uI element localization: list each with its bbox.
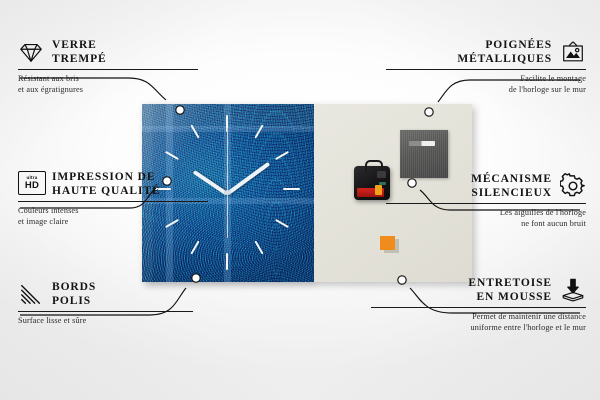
polished-edge-icon <box>18 281 44 307</box>
feature-desc-line2: et aux égratignures <box>18 85 83 94</box>
feature-mecanisme-silencieux: MÉCANISME SILENCIEUX Les aiguilles de l'… <box>386 172 586 229</box>
feature-divider <box>371 307 586 308</box>
ultra-hd-badge: ultra HD <box>18 171 46 195</box>
infographic-page: VERRE TREMPÉ Résistant aux bris et aux é… <box>0 0 600 400</box>
feature-description: Surface lisse et sûre <box>18 316 193 327</box>
feature-title-line1: BORDS <box>52 281 96 293</box>
feature-entretoise-en-mousse: ENTRETOISE EN MOUSSE Permet de maintenir… <box>371 276 586 333</box>
feature-desc-line2: ne font aucun bruit <box>521 219 586 228</box>
feature-heading: POIGNÉES MÉTALLIQUES <box>386 38 586 66</box>
feature-heading: BORDS POLIS <box>18 280 193 308</box>
ultra-hd-icon: ultra HD <box>18 171 44 197</box>
feature-desc-line1: Permet de maintenir une distance <box>472 312 586 321</box>
feature-title: MÉCANISME SILENCIEUX <box>471 172 552 200</box>
feature-heading: VERRE TREMPÉ <box>18 38 198 66</box>
feature-description: Permet de maintenir une distance uniform… <box>371 312 586 333</box>
feature-title: IMPRESSION DE HAUTE QUALITÉ <box>52 170 161 198</box>
feature-desc-line1: Facilite le montage <box>520 74 586 83</box>
feature-title: ENTRETOISE EN MOUSSE <box>468 276 552 304</box>
feature-bords-polis: BORDS POLIS Surface lisse et sûre <box>18 280 193 327</box>
feature-title-line1: MÉCANISME <box>471 173 552 185</box>
battery-plus-terminal <box>375 185 382 195</box>
gear-icon <box>560 173 586 199</box>
feature-desc-line1: Résistant aux bris <box>18 74 79 83</box>
diamond-icon <box>18 39 44 65</box>
feature-description: Couleurs intenses et image claire <box>18 206 208 227</box>
feature-title: VERRE TREMPÉ <box>52 38 107 66</box>
feature-title-line2: TREMPÉ <box>52 53 107 65</box>
feature-heading: ultra HD IMPRESSION DE HAUTE QUALITÉ <box>18 170 208 198</box>
feature-title-line2: HAUTE QUALITÉ <box>52 185 161 197</box>
feature-verre-trempe: VERRE TREMPÉ Résistant aux bris et aux é… <box>18 38 198 95</box>
feature-title-line2: EN MOUSSE <box>476 291 552 303</box>
feature-title-line1: VERRE <box>52 39 97 51</box>
foam-spacer <box>380 236 395 250</box>
feature-divider <box>18 201 208 202</box>
feature-title: BORDS POLIS <box>52 280 96 308</box>
feature-description: Les aiguilles de l'horloge ne font aucun… <box>386 208 586 229</box>
feature-desc-line2: et image claire <box>18 217 68 226</box>
feature-title-line1: ENTRETOISE <box>468 277 552 289</box>
feature-divider <box>18 69 198 70</box>
battery <box>357 188 384 197</box>
feature-title-line2: SILENCIEUX <box>471 187 552 199</box>
feature-divider <box>386 203 586 204</box>
feature-title-line1: IMPRESSION DE <box>52 171 155 183</box>
feature-title: POIGNÉES MÉTALLIQUES <box>457 38 552 66</box>
clock-mechanism-box <box>354 166 390 200</box>
feature-divider <box>18 311 193 312</box>
feature-title-line2: POLIS <box>52 295 91 307</box>
feature-description: Résistant aux bris et aux égratignures <box>18 74 198 95</box>
feature-impression-haute-qualite: ultra HD IMPRESSION DE HAUTE QUALITÉ Cou… <box>18 170 208 227</box>
mechanism-hanging-loop <box>365 160 383 171</box>
feature-poignees-metalliques: POIGNÉES MÉTALLIQUES Facilite le montage… <box>386 38 586 95</box>
feature-heading: ENTRETOISE EN MOUSSE <box>371 276 586 304</box>
mechanism-detail-top <box>377 171 386 178</box>
feature-description: Facilite le montage de l'horloge sur le … <box>386 74 586 95</box>
feature-divider <box>386 69 586 70</box>
hanging-picture-frame-icon <box>560 39 586 65</box>
handle-keyhole-slot <box>409 141 435 146</box>
feature-desc-line2: uniforme entre l'horloge et le mur <box>471 323 586 332</box>
feature-title-line2: MÉTALLIQUES <box>457 53 552 65</box>
feature-desc-line1: Couleurs intenses <box>18 206 79 215</box>
feature-desc-line1: Surface lisse et sûre <box>18 316 86 325</box>
feature-desc-line1: Les aiguilles de l'horloge <box>500 208 586 217</box>
feature-desc-line2: de l'horloge sur le mur <box>509 85 586 94</box>
arrow-onto-pad-icon <box>560 277 586 303</box>
metal-handle-plate <box>400 130 448 178</box>
feature-title-line1: POIGNÉES <box>485 39 552 51</box>
ultra-hd-large-text: HD <box>25 181 39 191</box>
feature-heading: MÉCANISME SILENCIEUX <box>386 172 586 200</box>
